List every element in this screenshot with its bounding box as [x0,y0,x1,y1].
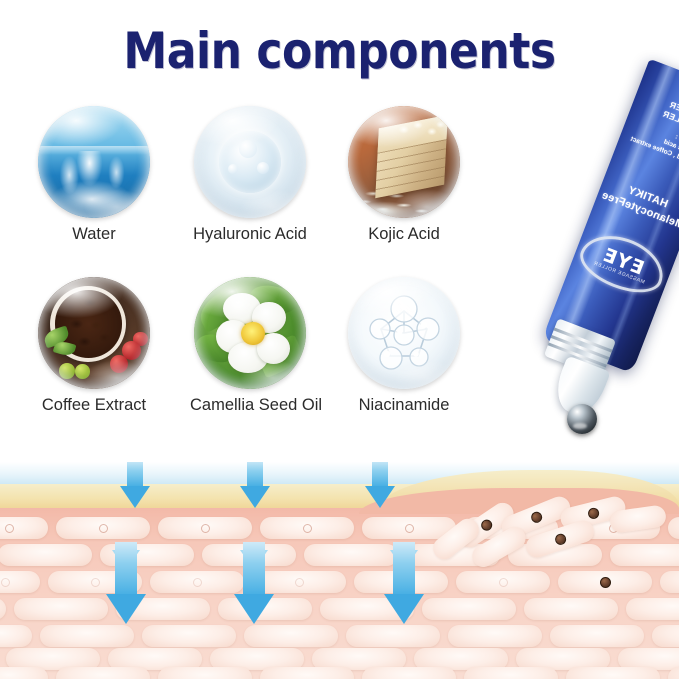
melanin-deposit [553,532,567,546]
skin-cell [260,667,354,679]
skin-cell [362,667,456,679]
cell-nucleus [91,578,100,587]
skin-cell [464,667,558,679]
ingredient-label: Coffee Extract [34,396,154,415]
skin-cell [56,517,150,539]
skin-cell [158,517,252,539]
melanin-deposit [600,577,611,588]
skin-cell [0,544,92,566]
ingredient-item-camellia-seed-oil: Camellia Seed Oil [190,277,310,415]
skin-cell-row [0,667,679,679]
skin-cell [0,517,48,539]
skin-cell [40,625,134,647]
skin-cell [346,625,440,647]
skin-cell [142,625,236,647]
cell-nucleus [295,578,304,587]
cell-nucleus [405,524,414,533]
skin-cell [558,571,652,593]
water-splash-icon [38,106,150,218]
skin-cell [0,598,6,620]
skin-cell [566,667,660,679]
page-title: Main components [41,22,639,80]
skin-cell [158,667,252,679]
skin-cell [150,571,244,593]
skin-cell [550,625,644,647]
coffee-beans-icon [38,277,150,389]
skin-cell [422,598,516,620]
skin-cell-row [0,571,679,598]
skin-cell [0,667,48,679]
melanin-deposit [529,510,543,524]
skin-cell [56,667,150,679]
ingredient-item-kojic-acid: Kojic Acid [344,106,464,244]
skin-cell [304,544,398,566]
skin-cell [610,544,679,566]
skin-cell [660,571,679,593]
ingredient-item-coffee-extract: Coffee Extract [34,277,154,415]
skin-cell [668,667,679,679]
product-infographic: Main components Water Hyaluronic Acid Ko… [0,0,679,679]
melanin-deposit [586,506,599,519]
molecule-icon [348,277,460,389]
ingredient-label: Water [34,225,154,244]
cell-nucleus [303,524,312,533]
roller-ball-icon [567,404,597,434]
product-tube: 360 ROLLER EYE ROLLER Ingredients : Hyal… [487,96,679,496]
skin-cell [448,625,542,647]
cell-nucleus [5,524,14,533]
skin-cross-section-diagram [0,462,679,679]
skin-cell [456,571,550,593]
skin-cell [668,517,679,539]
skin-cell [260,517,354,539]
ingredient-label: Hyaluronic Acid [190,225,310,244]
camellia-flower-icon [194,277,306,389]
skin-cell [524,598,618,620]
water-bubble-icon [194,106,306,218]
skin-cell [0,625,32,647]
ingredient-item-hyaluronic-acid: Hyaluronic Acid [190,106,310,244]
skin-cell [652,625,679,647]
melanin-deposit [478,517,493,532]
cell-nucleus [1,578,10,587]
ingredient-label: Kojic Acid [344,225,464,244]
skin-cell [14,598,108,620]
rice-box-icon [348,106,460,218]
skin-cell-row [0,544,679,571]
skin-cell-row [0,598,679,625]
skin-cell [244,625,338,647]
skin-cell [252,571,346,593]
skin-cell [0,571,40,593]
ingredient-item-water: Water [34,106,154,244]
cell-nucleus [499,578,508,587]
cell-nucleus [201,524,210,533]
skin-cell [626,598,679,620]
ingredient-label: Camellia Seed Oil [190,396,310,415]
ingredient-item-niacinamide: Niacinamide [344,277,464,415]
cell-nucleus [193,578,202,587]
ingredient-label: Niacinamide [344,396,464,415]
cell-nucleus [99,524,108,533]
